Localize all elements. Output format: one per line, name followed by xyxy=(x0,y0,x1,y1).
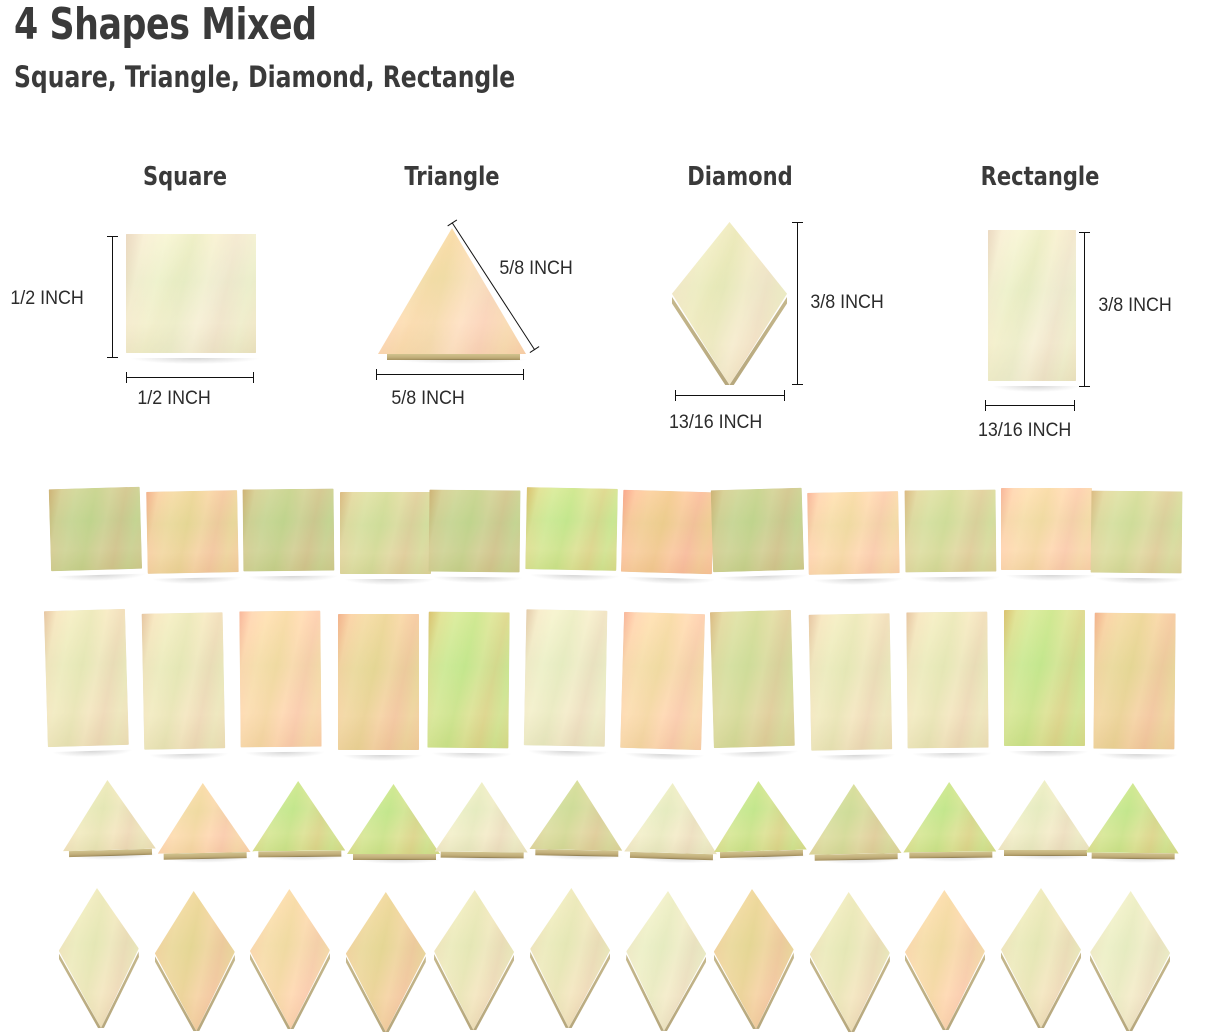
tile-shadow xyxy=(912,753,991,760)
tile-shadow xyxy=(1007,855,1093,860)
tile-diamond xyxy=(905,890,986,1031)
tile-shadow xyxy=(633,857,719,864)
tile-rectangle xyxy=(1004,610,1085,753)
tile-shadow xyxy=(150,753,229,761)
tile-face xyxy=(1001,488,1092,570)
tile-rectangle xyxy=(427,612,509,756)
tile-face xyxy=(904,490,996,573)
tile-face xyxy=(347,784,440,854)
tile-shadow xyxy=(432,753,511,760)
tile-triangle xyxy=(529,779,623,857)
tile-face xyxy=(153,890,236,1032)
tile-shadow xyxy=(719,751,798,759)
tile-diamond xyxy=(57,887,141,1029)
tile-shadow xyxy=(818,858,904,865)
tile-shadow xyxy=(814,578,903,586)
tile-rectangle xyxy=(1094,613,1176,757)
tile-face xyxy=(807,491,900,575)
sample-shape-rectangle xyxy=(988,230,1076,388)
tile-face xyxy=(624,782,719,855)
tile-face xyxy=(1004,610,1085,746)
tile-rectangle xyxy=(620,612,705,757)
page-subtitle: Square, Triangle, Diamond, Rectangle xyxy=(14,60,1004,94)
dimension-line-square-height xyxy=(112,236,113,358)
sample-shape-triangle xyxy=(378,228,526,360)
tile-rectangle xyxy=(524,609,608,754)
tile-shadow xyxy=(434,577,523,584)
tile-shadow xyxy=(1009,751,1088,757)
tile-square xyxy=(429,490,521,580)
tile-face xyxy=(338,614,419,750)
dimension-line-square-width xyxy=(126,377,254,378)
tile-face xyxy=(529,887,612,1029)
tile-square xyxy=(807,491,900,582)
tile-face xyxy=(142,612,226,750)
tile-face xyxy=(525,487,618,571)
tile-face xyxy=(712,888,796,1030)
tile-shadow xyxy=(345,579,434,585)
tile-shadow xyxy=(262,856,348,862)
tile-square xyxy=(621,490,715,582)
dimension-line-diamond-width xyxy=(675,395,785,396)
tile-face xyxy=(998,780,1091,850)
tile-face xyxy=(1090,491,1182,574)
tile-face xyxy=(146,490,239,574)
dimension-line-triangle-width xyxy=(376,374,524,375)
tile-shadow xyxy=(718,575,807,584)
tile-face xyxy=(49,487,142,572)
tile-shadow xyxy=(152,577,241,585)
tile-face xyxy=(240,611,322,748)
tile-triangle xyxy=(156,782,250,860)
tile-shadow xyxy=(723,855,809,862)
tile-diamond xyxy=(624,890,708,1032)
tile-shadow xyxy=(538,854,624,861)
tile-shadow xyxy=(343,755,422,761)
tile-shadow xyxy=(444,857,530,863)
tile-face xyxy=(710,610,795,748)
tile-face xyxy=(44,609,129,747)
tile-shadow xyxy=(1095,858,1181,864)
tile-diamond xyxy=(1001,888,1081,1028)
tile-diamond xyxy=(153,890,236,1032)
tile-square xyxy=(49,487,143,579)
tile-shadow xyxy=(356,859,442,864)
dimension-label-triangle-side: 5/8 INCH xyxy=(499,258,572,280)
tile-square xyxy=(904,490,996,580)
tile-face xyxy=(808,891,891,1033)
dimension-line-diamond-height xyxy=(797,222,798,385)
dimension-label-diamond-width: 13/16 INCH xyxy=(669,412,762,434)
tile-triangle xyxy=(998,780,1091,856)
tile-square xyxy=(146,490,239,581)
tile-shadow xyxy=(625,753,704,761)
tile-square xyxy=(340,492,431,581)
tile-face xyxy=(429,490,521,573)
tile-face xyxy=(434,890,515,1031)
tile-shadow xyxy=(53,750,132,758)
tile-shadow xyxy=(1098,754,1177,761)
tile-face xyxy=(346,892,426,1032)
tile-shadow xyxy=(530,574,619,582)
tile-triangle xyxy=(347,784,440,860)
tile-face xyxy=(156,782,250,854)
dimension-label-rectangle-height: 3/8 INCH xyxy=(1098,295,1171,317)
spec-label-triangle: Triangle xyxy=(362,162,542,192)
tile-face xyxy=(340,492,431,574)
tile-triangle xyxy=(1086,783,1180,860)
tile-face xyxy=(243,489,335,572)
tile-diamond xyxy=(1089,891,1170,1032)
tile-face xyxy=(529,779,623,851)
tile-rectangle xyxy=(142,612,226,757)
tile-face xyxy=(624,890,708,1032)
dimension-line-rectangle-width xyxy=(985,405,1075,406)
tile-shadow xyxy=(913,857,999,863)
tile-triangle xyxy=(712,780,807,859)
tile-diamond xyxy=(434,890,515,1031)
tile-face xyxy=(905,890,986,1031)
tile-face xyxy=(710,488,803,573)
tile-triangle xyxy=(61,779,156,858)
tile-face xyxy=(524,609,608,747)
tile-face xyxy=(808,613,892,751)
tile-face xyxy=(435,782,529,853)
tile-square xyxy=(1090,491,1182,581)
header-block: 4 Shapes Mixed Square, Triangle, Diamond… xyxy=(14,2,1114,94)
sample-shape-diamond xyxy=(672,222,787,385)
dimension-label-rectangle-width: 13/16 INCH xyxy=(978,420,1071,442)
tile-diamond xyxy=(529,887,612,1029)
tile-shadow xyxy=(56,574,145,583)
tile-triangle xyxy=(252,781,346,858)
page-title: 4 Shapes Mixed xyxy=(14,2,982,48)
tile-rectangle xyxy=(240,611,322,755)
tile-shadow xyxy=(529,750,608,758)
tile-square xyxy=(243,489,335,579)
tile-face xyxy=(807,783,901,855)
tile-triangle xyxy=(435,782,529,859)
tile-rectangle xyxy=(710,610,795,755)
tile-shadow xyxy=(72,854,158,861)
tile-face xyxy=(621,490,714,575)
tile-shadow xyxy=(816,754,895,762)
spec-label-square: Square xyxy=(95,162,275,192)
tile-face xyxy=(1094,613,1176,750)
tile-face xyxy=(61,779,156,852)
tile-rectangle xyxy=(44,609,129,754)
tile-square xyxy=(1001,488,1092,577)
tile-face xyxy=(252,781,346,852)
tile-face xyxy=(620,612,705,750)
tile-rectangle xyxy=(808,613,892,758)
dimension-label-square-width: 1/2 INCH xyxy=(137,388,210,410)
dimension-line-rectangle-height xyxy=(1084,232,1085,387)
tile-face xyxy=(1086,783,1180,854)
tile-shadow xyxy=(626,577,715,586)
tile-rectangle xyxy=(906,612,988,756)
tile-shadow xyxy=(246,752,325,759)
tile-face xyxy=(250,889,331,1030)
tile-diamond xyxy=(346,892,426,1032)
sample-shape-square xyxy=(126,234,256,360)
tile-face xyxy=(427,612,509,749)
tile-diamond xyxy=(250,889,331,1030)
tile-triangle xyxy=(903,782,997,859)
spec-label-diamond: Diamond xyxy=(650,162,830,192)
tile-square xyxy=(710,488,804,580)
dimension-label-triangle-width: 5/8 INCH xyxy=(391,388,464,410)
tile-diamond xyxy=(808,891,891,1033)
tile-face xyxy=(57,887,141,1029)
tile-square xyxy=(525,487,618,578)
tile-diamond xyxy=(712,888,796,1030)
tile-triangle xyxy=(807,783,901,861)
tile-face xyxy=(1001,888,1081,1028)
dimension-label-diamond-height: 3/8 INCH xyxy=(810,292,883,314)
spec-label-rectangle: Rectangle xyxy=(950,162,1130,192)
tile-shadow xyxy=(1006,575,1095,581)
tile-shadow xyxy=(248,576,337,583)
tile-shadow xyxy=(910,577,999,584)
tile-rectangle xyxy=(338,614,419,757)
tile-face xyxy=(906,612,988,749)
dimension-label-square-height: 1/2 INCH xyxy=(10,288,83,310)
tile-face xyxy=(1089,891,1170,1032)
tile-triangle xyxy=(624,782,719,861)
tile-face xyxy=(712,780,807,853)
tile-shadow xyxy=(167,857,253,864)
tile-face xyxy=(903,782,997,853)
tile-shadow xyxy=(1095,578,1184,585)
